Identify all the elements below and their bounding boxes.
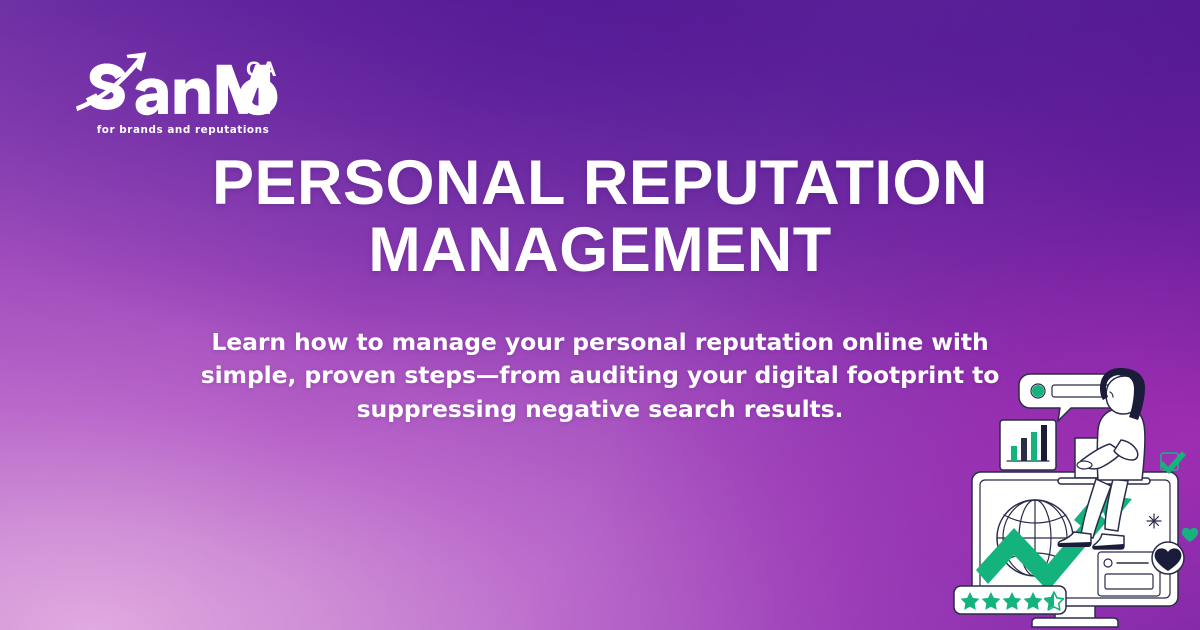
check-badge [1160,451,1186,474]
reputation-growth-illustration: .ln { fill:none; stroke:#2b2b4a; stroke-… [950,362,1200,630]
page-subtitle: Learn how to manage your personal reputa… [190,326,1010,427]
small-heart [1182,528,1198,542]
sparkle [1147,514,1161,528]
hero-copy: PERSONAL REPUTATION MANAGEMENT Learn how… [190,150,1010,427]
banner-root: CA for brands and reputations PERSONAL R… [0,0,1200,630]
star-rating [954,586,1066,614]
svg-text:CA: CA [246,58,277,81]
sanmo-logo[interactable]: CA for brands and reputations [68,48,298,140]
heart-badge [1152,542,1184,574]
page-title: PERSONAL REPUTATION MANAGEMENT [190,150,1010,284]
bar-chart-card [1000,420,1056,470]
window-card [1098,552,1160,596]
svg-text:for brands and reputations: for brands and reputations [97,124,270,136]
